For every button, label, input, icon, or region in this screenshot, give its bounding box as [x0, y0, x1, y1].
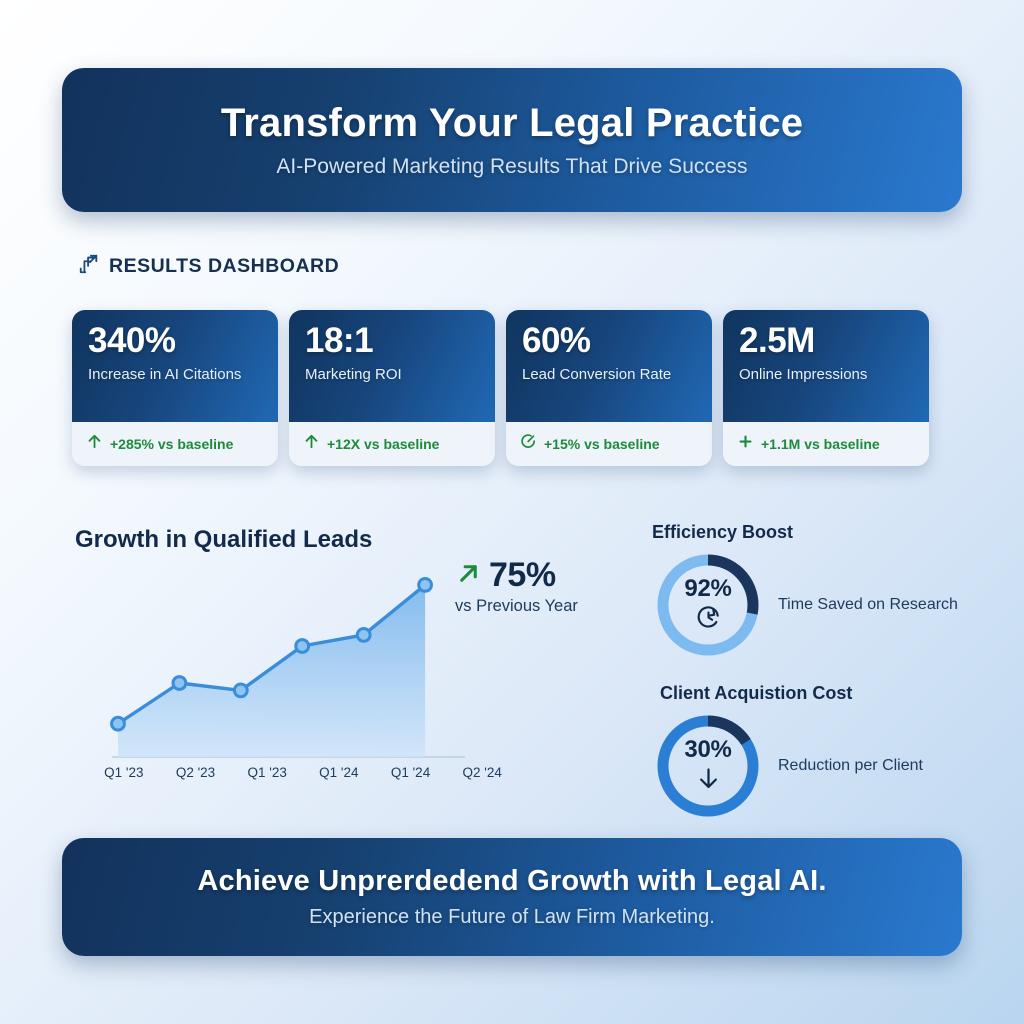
footer-subtitle: Experience the Future of Law Firm Market… [309, 906, 715, 929]
kpi-card-online-impressions[interactable]: 2.5M Online Impressions +1.1M vs baselin… [723, 310, 929, 466]
donut-ring: 30% [652, 710, 764, 822]
kpi-card-body: 18:1 Marketing ROI [289, 310, 495, 422]
donut-client-acquisition-cost: Client Acquistion Cost 30% Reduction per… [652, 683, 923, 822]
chart-x-axis-labels: Q1 '23 Q2 '23 Q1 '23 Q1 '24 Q1 '24 Q2 '2… [88, 765, 518, 780]
kpi-label: Increase in AI Citations [88, 365, 262, 384]
kpi-label: Marketing ROI [305, 365, 479, 384]
kpi-delta-strip: +285% vs baseline [72, 422, 278, 466]
kpi-card-lead-conversion[interactable]: 60% Lead Conversion Rate +15% vs baselin… [506, 310, 712, 466]
kpi-delta-strip: +12X vs baseline [289, 422, 495, 466]
circle-progress-icon [520, 433, 537, 455]
chart-data-point [419, 579, 432, 592]
section-header: RESULTS DASHBOARD [78, 253, 339, 280]
chart-arrow-icon [78, 253, 100, 280]
kpi-card-row: 340% Increase in AI Citations +285% vs b… [72, 310, 929, 466]
kpi-card-body: 2.5M Online Impressions [723, 310, 929, 422]
chart-data-point [173, 677, 186, 690]
chart-callout: 75% vs Previous Year [455, 556, 578, 616]
kpi-label: Online Impressions [739, 365, 913, 384]
chart-callout-caption: vs Previous Year [455, 597, 578, 616]
footer-banner: Achieve Unprerdedend Growth with Legal A… [62, 838, 962, 956]
donut-heading: Client Acquistion Cost [660, 683, 923, 704]
donut-caption: Reduction per Client [778, 755, 923, 776]
kpi-delta-strip: +15% vs baseline [506, 422, 712, 466]
chart-area-fill [118, 585, 425, 757]
kpi-value: 60% [522, 323, 696, 360]
donut-percent: 30% [684, 736, 731, 764]
kpi-card-body: 60% Lead Conversion Rate [506, 310, 712, 422]
kpi-label: Lead Conversion Rate [522, 365, 696, 384]
chart-data-point [112, 717, 125, 730]
donut-efficiency-boost: Efficiency Boost 92% Time Saved on Resea… [652, 522, 958, 661]
arrow-down-icon [695, 765, 722, 797]
x-tick-label: Q2 '23 [160, 765, 232, 780]
kpi-card-marketing-roi[interactable]: 18:1 Marketing ROI +12X vs baseline [289, 310, 495, 466]
plus-icon [737, 433, 754, 455]
header-banner: Transform Your Legal Practice AI-Powered… [62, 68, 962, 212]
kpi-delta-text: +285% vs baseline [110, 436, 233, 452]
arrow-trending-up-icon [455, 560, 482, 592]
qualified-leads-area-chart [80, 560, 480, 770]
donut-heading: Efficiency Boost [652, 522, 958, 543]
footer-title: Achieve Unprerdedend Growth with Legal A… [197, 865, 826, 898]
page-subtitle: AI-Powered Marketing Results That Drive … [276, 155, 747, 179]
page-title: Transform Your Legal Practice [221, 101, 803, 146]
kpi-value: 2.5M [739, 323, 913, 360]
kpi-delta-text: +1.1M vs baseline [761, 436, 880, 452]
donut-ring: 92% [652, 549, 764, 661]
chart-data-point [234, 684, 247, 697]
section-label-text: RESULTS DASHBOARD [109, 255, 339, 278]
donut-caption: Time Saved on Research [778, 594, 958, 615]
kpi-delta-strip: +1.1M vs baseline [723, 422, 929, 466]
kpi-card-body: 340% Increase in AI Citations [72, 310, 278, 422]
kpi-value: 18:1 [305, 323, 479, 360]
kpi-card-ai-citations[interactable]: 340% Increase in AI Citations +285% vs b… [72, 310, 278, 466]
x-tick-label: Q1 '24 [375, 765, 447, 780]
clock-rotate-icon [695, 604, 722, 636]
chart-callout-value: 75% [489, 556, 556, 595]
kpi-value: 340% [88, 323, 262, 360]
x-tick-label: Q1 '24 [303, 765, 375, 780]
x-tick-label: Q1 '23 [88, 765, 160, 780]
chart-title: Growth in Qualified Leads [75, 526, 372, 554]
kpi-delta-text: +12X vs baseline [327, 436, 439, 452]
x-tick-label: Q1 '23 [231, 765, 303, 780]
chart-data-point [357, 629, 370, 642]
chart-data-point [296, 640, 309, 653]
donut-percent: 92% [684, 575, 731, 603]
x-tick-label: Q2 '24 [446, 765, 518, 780]
arrow-up-icon [86, 433, 103, 455]
arrow-up-icon [303, 433, 320, 455]
kpi-delta-text: +15% vs baseline [544, 436, 660, 452]
